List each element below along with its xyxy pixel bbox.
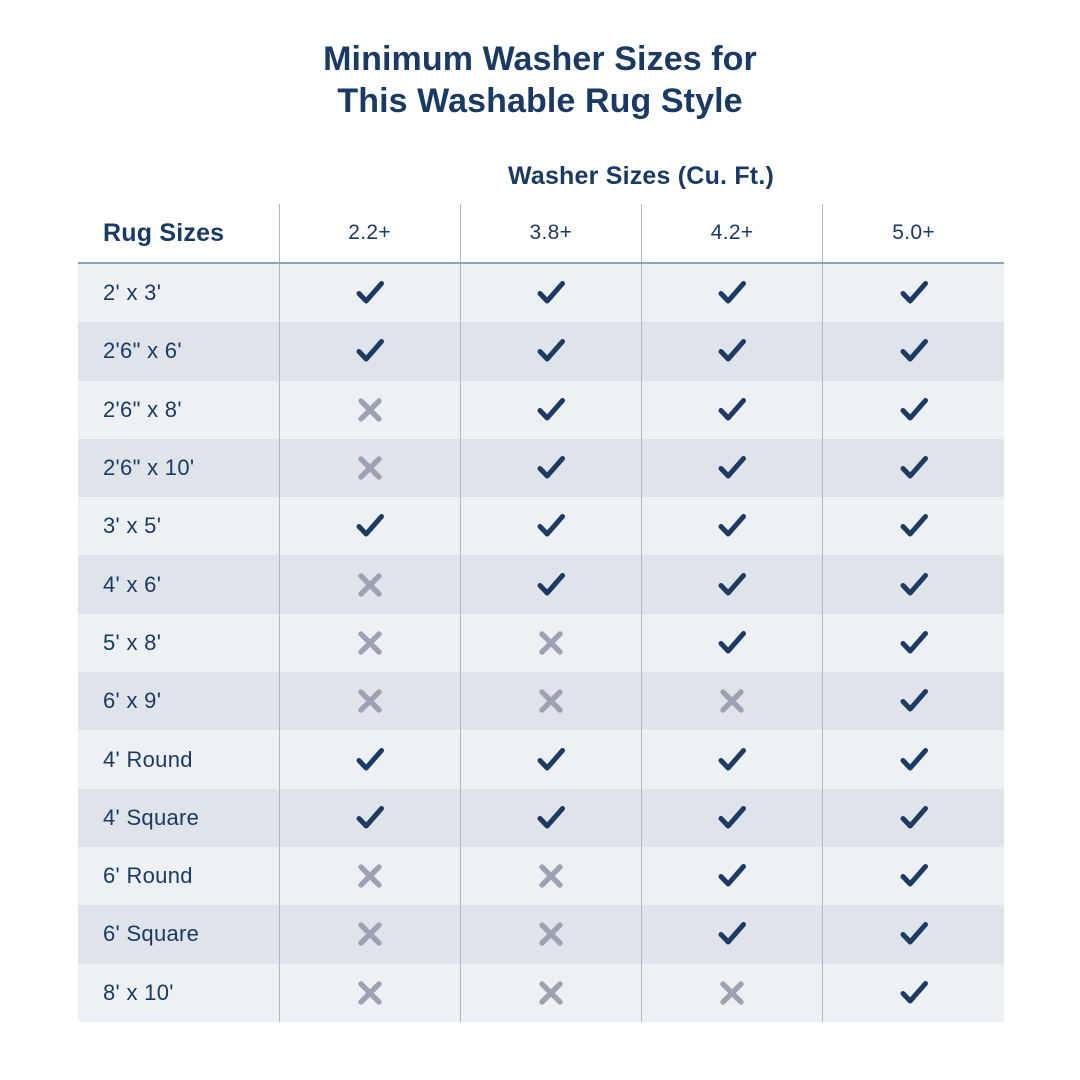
check-icon [534, 568, 568, 602]
cross-icon [534, 976, 568, 1010]
check-icon [715, 917, 749, 951]
check-icon [534, 276, 568, 310]
table-row: 2'6" x 10' [78, 439, 1004, 497]
washer-size-chart-page: Minimum Washer Sizes for This Washable R… [0, 0, 1080, 1080]
cross-icon [353, 859, 387, 893]
cross-icon [353, 568, 387, 602]
rug-size-label: 2' x 3' [78, 263, 279, 322]
check-icon [353, 743, 387, 777]
compatibility-cell [823, 497, 1004, 555]
compatibility-cell [642, 322, 823, 380]
compatibility-cell [460, 672, 641, 730]
compatibility-cell [279, 789, 460, 847]
compatibility-cell [460, 614, 641, 672]
column-header-washer-3: 4.2+ [642, 204, 823, 263]
compatibility-cell [279, 263, 460, 322]
check-icon [897, 976, 931, 1010]
page-title-line-2: This Washable Rug Style [0, 80, 1080, 122]
check-icon [715, 859, 749, 893]
check-icon [897, 334, 931, 368]
cross-icon [534, 917, 568, 951]
compatibility-cell [823, 964, 1004, 1022]
table-row: 4' Round [78, 730, 1004, 788]
check-icon [534, 334, 568, 368]
check-icon [897, 801, 931, 835]
check-icon [715, 451, 749, 485]
check-icon [534, 451, 568, 485]
compatibility-cell [642, 964, 823, 1022]
rug-size-label: 6' Square [78, 905, 279, 963]
compatibility-cell [823, 322, 1004, 380]
rug-size-label: 6' Round [78, 847, 279, 905]
cross-icon [534, 859, 568, 893]
compatibility-cell [279, 497, 460, 555]
compatibility-cell [460, 439, 641, 497]
check-icon [534, 743, 568, 777]
cross-icon [353, 917, 387, 951]
compatibility-cell [823, 439, 1004, 497]
compatibility-cell [642, 672, 823, 730]
column-header-washer-1: 2.2+ [279, 204, 460, 263]
check-icon [353, 276, 387, 310]
check-icon [897, 859, 931, 893]
table-row: 3' x 5' [78, 497, 1004, 555]
compatibility-cell [642, 789, 823, 847]
compatibility-table-container: Rug Sizes 2.2+ 3.8+ 4.2+ 5.0+ 2' x 3'2'6… [78, 204, 1004, 1022]
compatibility-cell [460, 322, 641, 380]
check-icon [897, 917, 931, 951]
check-icon [897, 743, 931, 777]
table-row: 6' Round [78, 847, 1004, 905]
compatibility-cell [823, 789, 1004, 847]
compatibility-cell [279, 555, 460, 613]
check-icon [715, 568, 749, 602]
column-header-washer-4: 5.0+ [823, 204, 1004, 263]
cross-icon [353, 393, 387, 427]
compatibility-cell [823, 381, 1004, 439]
compatibility-cell [642, 381, 823, 439]
compatibility-cell [823, 905, 1004, 963]
washer-compatibility-table: Rug Sizes 2.2+ 3.8+ 4.2+ 5.0+ 2' x 3'2'6… [78, 204, 1004, 1022]
rug-size-label: 2'6" x 8' [78, 381, 279, 439]
check-icon [715, 393, 749, 427]
compatibility-cell [279, 439, 460, 497]
cross-icon [715, 684, 749, 718]
check-icon [897, 684, 931, 718]
compatibility-cell [642, 555, 823, 613]
compatibility-cell [642, 905, 823, 963]
check-icon [897, 451, 931, 485]
compatibility-cell [279, 905, 460, 963]
compatibility-cell [460, 964, 641, 1022]
check-icon [715, 626, 749, 660]
compatibility-cell [823, 730, 1004, 788]
rug-size-label: 4' Round [78, 730, 279, 788]
column-header-rug-sizes: Rug Sizes [78, 204, 279, 263]
compatibility-cell [460, 847, 641, 905]
compatibility-cell [279, 614, 460, 672]
compatibility-cell [279, 847, 460, 905]
compatibility-cell [460, 497, 641, 555]
compatibility-cell [823, 263, 1004, 322]
rug-size-label: 2'6" x 10' [78, 439, 279, 497]
compatibility-cell [823, 555, 1004, 613]
check-icon [715, 801, 749, 835]
column-header-washer-2: 3.8+ [460, 204, 641, 263]
compatibility-cell [460, 730, 641, 788]
check-icon [897, 626, 931, 660]
compatibility-cell [460, 263, 641, 322]
compatibility-cell [642, 730, 823, 788]
compatibility-cell [642, 497, 823, 555]
cross-icon [353, 626, 387, 660]
table-head: Rug Sizes 2.2+ 3.8+ 4.2+ 5.0+ [78, 204, 1004, 263]
table-row: 6' x 9' [78, 672, 1004, 730]
check-icon [715, 743, 749, 777]
table-body: 2' x 3'2'6" x 6'2'6" x 8'2'6" x 10'3' x … [78, 263, 1004, 1022]
rug-size-label: 5' x 8' [78, 614, 279, 672]
cross-icon [353, 451, 387, 485]
compatibility-cell [460, 905, 641, 963]
check-icon [353, 801, 387, 835]
check-icon [534, 393, 568, 427]
check-icon [534, 509, 568, 543]
check-icon [353, 509, 387, 543]
table-row: 2' x 3' [78, 263, 1004, 322]
table-row: 8' x 10' [78, 964, 1004, 1022]
rug-size-label: 2'6" x 6' [78, 322, 279, 380]
compatibility-cell [823, 614, 1004, 672]
cross-icon [534, 626, 568, 660]
check-icon [897, 509, 931, 543]
check-icon [897, 568, 931, 602]
check-icon [715, 509, 749, 543]
check-icon [715, 334, 749, 368]
page-title: Minimum Washer Sizes for This Washable R… [0, 0, 1080, 122]
compatibility-cell [279, 730, 460, 788]
check-icon [353, 334, 387, 368]
compatibility-cell [823, 672, 1004, 730]
cross-icon [534, 684, 568, 718]
rug-size-label: 6' x 9' [78, 672, 279, 730]
rug-size-label: 8' x 10' [78, 964, 279, 1022]
table-row: 6' Square [78, 905, 1004, 963]
cross-icon [353, 976, 387, 1010]
table-row: 2'6" x 8' [78, 381, 1004, 439]
table-row: 2'6" x 6' [78, 322, 1004, 380]
rug-size-label: 4' x 6' [78, 555, 279, 613]
compatibility-cell [279, 964, 460, 1022]
compatibility-cell [460, 555, 641, 613]
check-icon [897, 276, 931, 310]
compatibility-cell [642, 439, 823, 497]
compatibility-cell [279, 672, 460, 730]
page-title-line-1: Minimum Washer Sizes for [0, 38, 1080, 80]
compatibility-cell [279, 322, 460, 380]
cross-icon [715, 976, 749, 1010]
compatibility-cell [460, 381, 641, 439]
check-icon [534, 801, 568, 835]
table-row: 4' Square [78, 789, 1004, 847]
table-row: 5' x 8' [78, 614, 1004, 672]
compatibility-cell [642, 847, 823, 905]
compatibility-cell [279, 381, 460, 439]
compatibility-cell [460, 789, 641, 847]
compatibility-cell [642, 263, 823, 322]
rug-size-label: 3' x 5' [78, 497, 279, 555]
check-icon [897, 393, 931, 427]
washer-sizes-group-header: Washer Sizes (Cu. Ft.) [279, 162, 1003, 191]
table-row: 4' x 6' [78, 555, 1004, 613]
check-icon [715, 276, 749, 310]
compatibility-cell [823, 847, 1004, 905]
cross-icon [353, 684, 387, 718]
table-header-row: Rug Sizes 2.2+ 3.8+ 4.2+ 5.0+ [78, 204, 1004, 263]
rug-size-label: 4' Square [78, 789, 279, 847]
compatibility-cell [642, 614, 823, 672]
